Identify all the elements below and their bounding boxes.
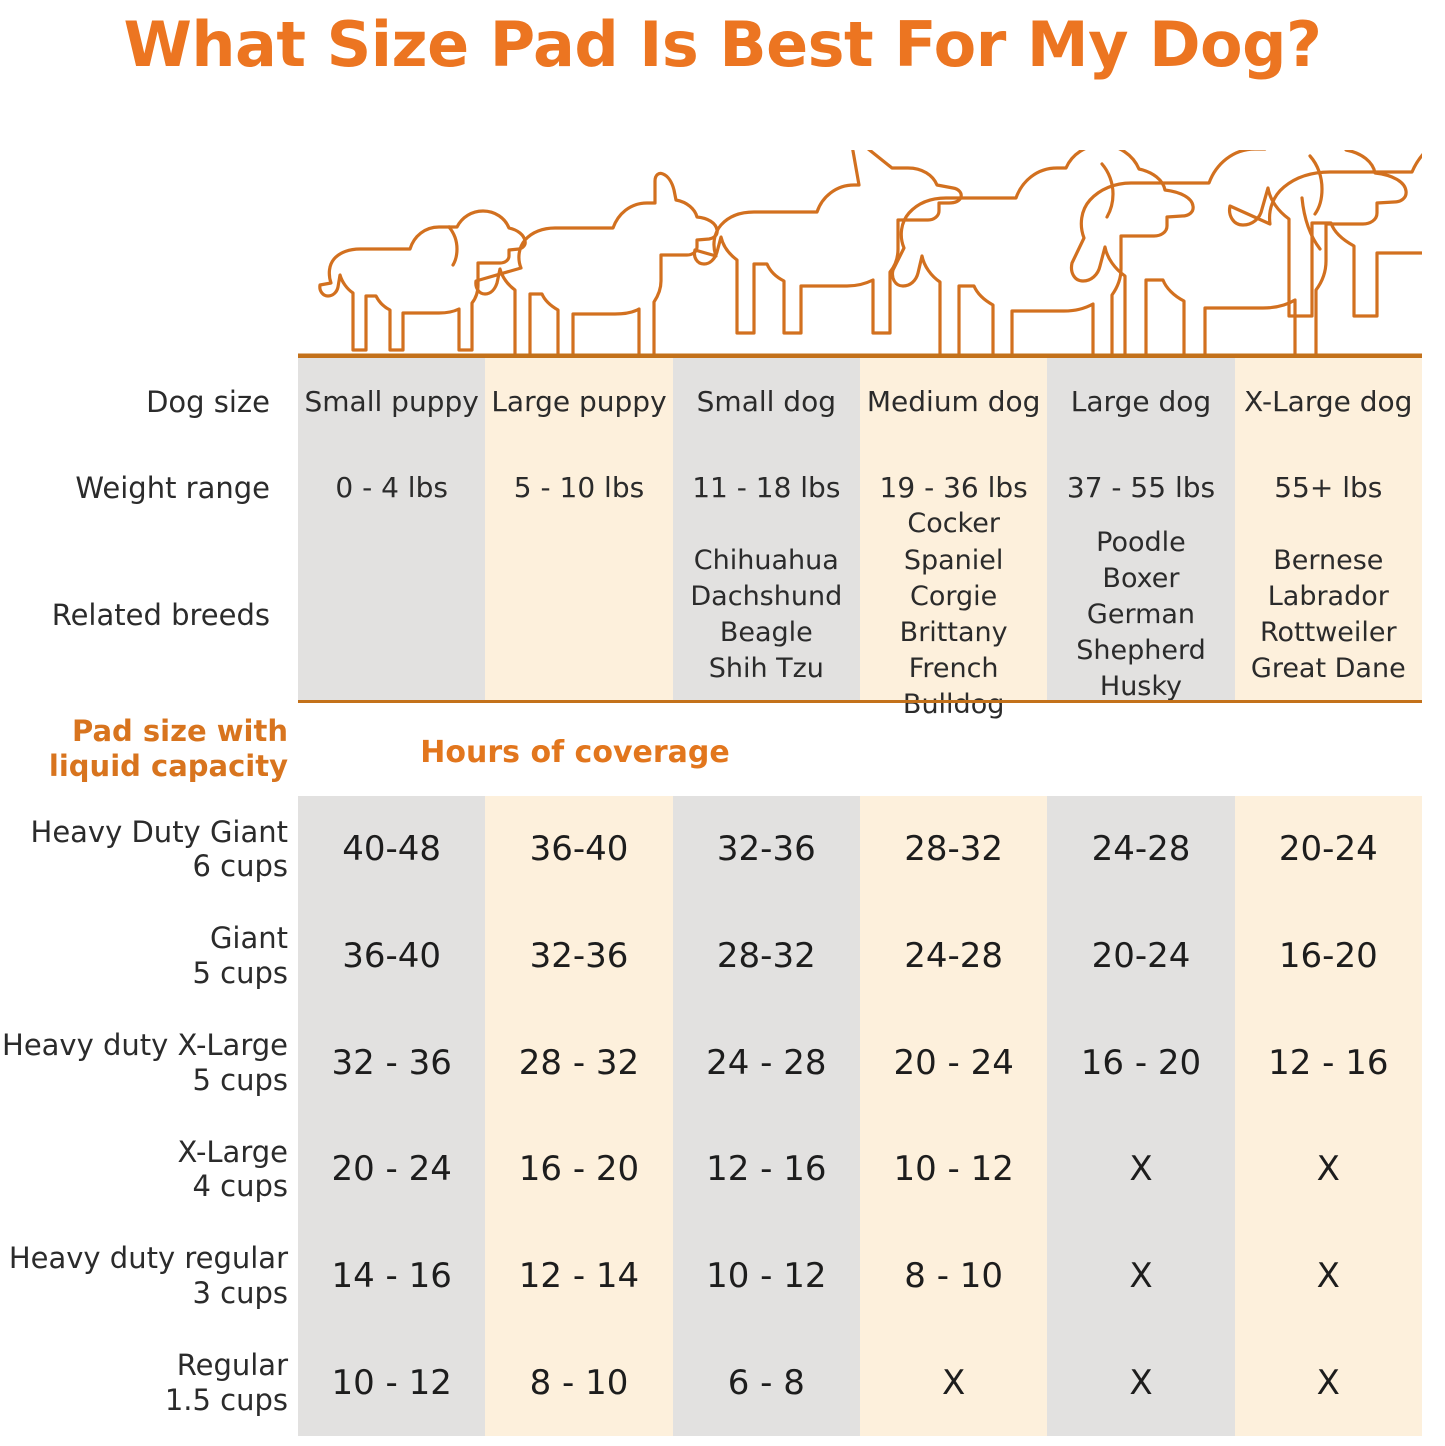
hours-cell-2-2: 24 - 28 bbox=[673, 1009, 860, 1116]
divider-rule-middle bbox=[298, 700, 1422, 703]
hours-cell-2-0: 32 - 36 bbox=[298, 1009, 485, 1116]
weight-range-cell-3: 11 - 18 lbs bbox=[673, 446, 860, 530]
hours-cell-3-1: 16 - 20 bbox=[485, 1116, 672, 1223]
hours-cell-1-3: 24-28 bbox=[860, 903, 1047, 1010]
hours-cell-5-3: X bbox=[860, 1329, 1047, 1436]
pad-row-label-4: Heavy duty regular 3 cups bbox=[0, 1223, 298, 1330]
dog-size-cell-2: Large puppy bbox=[485, 358, 672, 446]
related-breeds-cell-2 bbox=[485, 530, 672, 700]
hours-cell-0-5: 20-24 bbox=[1235, 796, 1422, 903]
pad-row-label-3: X-Large 4 cups bbox=[0, 1116, 298, 1223]
dog-size-cell-6: X-Large dog bbox=[1235, 358, 1422, 446]
page-title: What Size Pad Is Best For My Dog? bbox=[0, 8, 1445, 81]
weight-range-cell-2: 5 - 10 lbs bbox=[485, 446, 672, 530]
large-puppy-silhouette bbox=[476, 173, 717, 356]
hours-cell-0-2: 32-36 bbox=[673, 796, 860, 903]
hours-of-coverage-text: Hours of coverage bbox=[420, 735, 729, 770]
weight-range-cell-1: 0 - 4 lbs bbox=[298, 446, 485, 530]
hours-of-coverage-table: Heavy Duty Giant 6 cups 40-48 36-40 32-3… bbox=[0, 796, 1422, 1436]
hours-cell-1-1: 32-36 bbox=[485, 903, 672, 1010]
top-table: Dog size Small puppy Large puppy Small d… bbox=[0, 358, 1422, 700]
hours-cell-4-2: 10 - 12 bbox=[673, 1223, 860, 1330]
related-breeds-cell-3: Chihuahua Dachshund Beagle Shih Tzu bbox=[673, 530, 860, 700]
hours-cell-3-2: 12 - 16 bbox=[673, 1116, 860, 1223]
row-label-related-breeds: Related breeds bbox=[0, 530, 298, 700]
hours-cell-0-1: 36-40 bbox=[485, 796, 672, 903]
pad-row-label-2: Heavy duty X-Large 5 cups bbox=[0, 1009, 298, 1116]
hours-cell-4-4: X bbox=[1047, 1223, 1234, 1330]
pad-row-label-5: Regular 1.5 cups bbox=[0, 1329, 298, 1436]
weight-range-cell-6: 55+ lbs bbox=[1235, 446, 1422, 530]
hours-cell-5-4: X bbox=[1047, 1329, 1234, 1436]
related-breeds-cell-1 bbox=[298, 530, 485, 700]
related-breeds-cell-4: Cocker Spaniel Corgie Brittany French Bu… bbox=[860, 530, 1047, 700]
hours-cell-5-0: 10 - 12 bbox=[298, 1329, 485, 1436]
hours-cell-1-0: 36-40 bbox=[298, 903, 485, 1010]
hours-of-coverage-heading: Hours of coverage bbox=[298, 735, 1422, 770]
dog-silhouette-strip bbox=[298, 150, 1422, 356]
hours-cell-5-2: 6 - 8 bbox=[673, 1329, 860, 1436]
hours-cell-2-5: 12 - 16 bbox=[1235, 1009, 1422, 1116]
hours-cell-1-2: 28-32 bbox=[673, 903, 860, 1010]
hours-cell-0-4: 24-28 bbox=[1047, 796, 1234, 903]
row-label-dog-size: Dog size bbox=[0, 358, 298, 446]
dog-size-cell-1: Small puppy bbox=[298, 358, 485, 446]
dog-size-cell-4: Medium dog bbox=[860, 358, 1047, 446]
hours-cell-5-5: X bbox=[1235, 1329, 1422, 1436]
related-breeds-cell-6: Bernese Labrador Rottweiler Great Dane bbox=[1235, 530, 1422, 700]
hours-cell-1-4: 20-24 bbox=[1047, 903, 1234, 1010]
hours-cell-5-1: 8 - 10 bbox=[485, 1329, 672, 1436]
hours-cell-4-5: X bbox=[1235, 1223, 1422, 1330]
hours-cell-3-3: 10 - 12 bbox=[860, 1116, 1047, 1223]
medium-dog-silhouette bbox=[892, 150, 1193, 356]
dog-size-cell-5: Large dog bbox=[1047, 358, 1234, 446]
hours-cell-2-4: 16 - 20 bbox=[1047, 1009, 1234, 1116]
hours-cell-3-0: 20 - 24 bbox=[298, 1116, 485, 1223]
hours-cell-4-3: 8 - 10 bbox=[860, 1223, 1047, 1330]
hours-cell-2-3: 20 - 24 bbox=[860, 1009, 1047, 1116]
hours-cell-1-5: 16-20 bbox=[1235, 903, 1422, 1010]
hours-cell-3-5: X bbox=[1235, 1116, 1422, 1223]
small-puppy-silhouette bbox=[320, 211, 525, 350]
pad-row-label-1: Giant 5 cups bbox=[0, 903, 298, 1010]
hours-cell-2-1: 28 - 32 bbox=[485, 1009, 672, 1116]
small-dog-silhouette bbox=[694, 150, 961, 333]
hours-cell-0-3: 28-32 bbox=[860, 796, 1047, 903]
pad-row-label-0: Heavy Duty Giant 6 cups bbox=[0, 796, 298, 903]
related-breeds-cell-5: Poodle Boxer German Shepherd Husky bbox=[1047, 530, 1234, 700]
pad-size-heading: Pad size with liquid capacity bbox=[0, 714, 298, 785]
infographic-sheet: What Size Pad Is Best For My Dog? bbox=[0, 0, 1445, 1446]
hours-cell-4-1: 12 - 14 bbox=[485, 1223, 672, 1330]
hours-cell-0-0: 40-48 bbox=[298, 796, 485, 903]
dog-size-cell-3: Small dog bbox=[673, 358, 860, 446]
hours-cell-4-0: 14 - 16 bbox=[298, 1223, 485, 1330]
hours-cell-3-4: X bbox=[1047, 1116, 1234, 1223]
weight-range-cell-5: 37 - 55 lbs bbox=[1047, 446, 1234, 530]
row-label-weight-range: Weight range bbox=[0, 446, 298, 530]
